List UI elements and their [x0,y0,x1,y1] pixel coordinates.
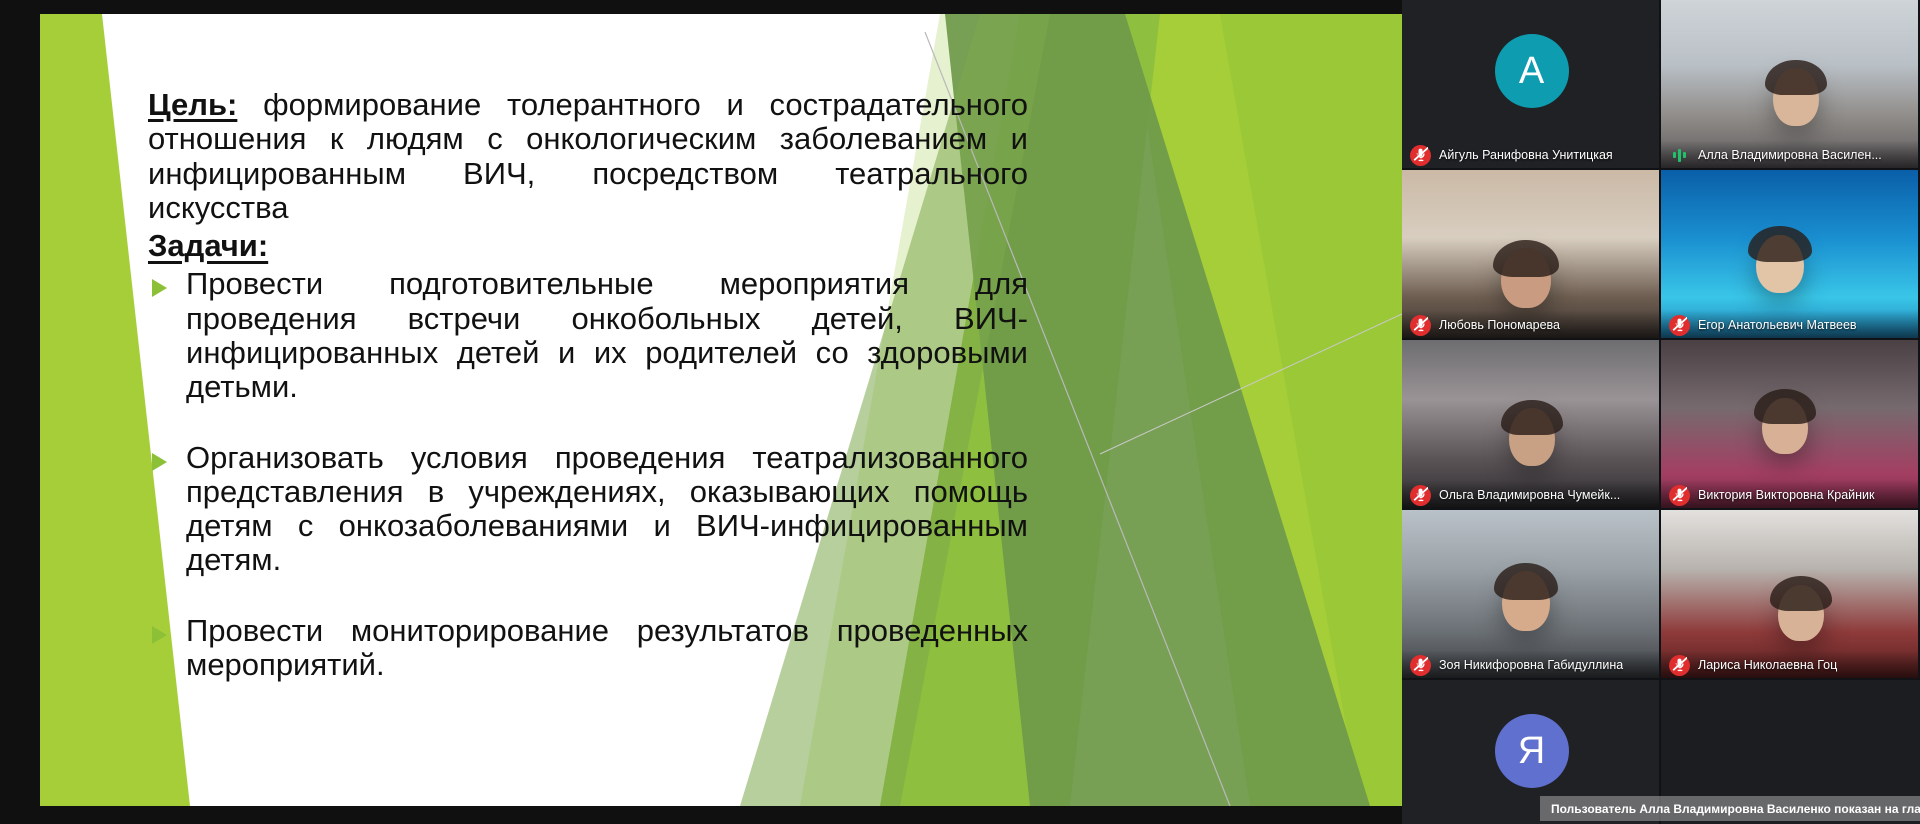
app-root: Цель: формирование толерантного и состра… [0,0,1920,824]
mic-muted-icon[interactable] [1410,145,1431,166]
participant-name: Виктория Викторовна Крайник [1698,488,1875,502]
participant-name-bar: Айгуль Ранифовна Унитицкая [1402,140,1661,170]
audio-level-icon [1669,145,1690,166]
goal-text: формирование толерантного и сострадатель… [148,87,1028,225]
tasks-heading-row: Задачи: [148,225,1028,265]
participant-name-bar: Ольга Владимировна Чумейк... [1402,480,1661,510]
bullet-2-text: Организовать условия проведения театрали… [186,441,1028,612]
avatar: Я [1495,714,1569,788]
goal-label: Цель: [148,87,237,122]
webcam-subject-hair [1748,226,1812,262]
participant-name-bar: Лариса Николаевна Гоц [1661,650,1920,680]
participant-name: Лариса Николаевна Гоц [1698,658,1837,672]
mic-muted-icon[interactable] [1669,485,1690,506]
participant-name: Зоя Никифоровна Габидуллина [1439,658,1623,672]
participant-name: Егор Анатольевич Матвеев [1698,318,1857,332]
mic-muted-icon[interactable] [1410,485,1431,506]
participant-name-bar: Любовь Пономарева [1402,310,1661,340]
participant-name: Алла Владимировна Василен... [1698,148,1882,162]
slide-text-body: Цель: формирование толерантного и состра… [148,88,1028,717]
triangle-bullet-icon [152,279,167,297]
slide-bullet-3: Провести мониторирование результатов про… [148,614,1028,717]
participant-name: Любовь Пономарева [1439,318,1560,332]
participant-name: Айгуль Ранифовна Унитицкая [1439,148,1613,162]
tile-divider [1661,678,1920,680]
slide-bullet-2: Организовать условия проведения театрали… [148,441,1028,612]
mic-muted-icon[interactable] [1669,655,1690,676]
mic-muted-icon[interactable] [1410,315,1431,336]
participant-name-bar: Алла Владимировна Василен... [1661,140,1920,170]
webcam-subject-hair [1501,400,1563,436]
slide-bullet-1: Провести подготовительные мероприятия дл… [148,267,1028,438]
tasks-label: Задачи: [148,229,268,263]
participant-tile[interactable]: Лариса Николаевна Гоц [1661,510,1920,680]
presentation-slide: Цель: формирование толерантного и состра… [40,14,1402,806]
participant-video-panel[interactable]: AАйгуль Ранифовна УнитицкаяАлла Владимир… [1402,0,1920,824]
participant-name-bar: Егор Анатольевич Матвеев [1661,310,1920,340]
bullet-1-text: Провести подготовительные мероприятия дл… [186,267,1028,438]
avatar: A [1495,34,1569,108]
webcam-subject-hair [1754,389,1816,424]
webcam-subject-hair [1493,240,1559,277]
participant-tile-grid: AАйгуль Ранифовна УнитицкаяАлла Владимир… [1402,0,1920,824]
participant-tile[interactable]: Ольга Владимировна Чумейк... [1402,340,1661,510]
participant-tile[interactable]: Егор Анатольевич Матвеев [1661,170,1920,340]
participant-name-bar: Зоя Никифоровна Габидуллина [1402,650,1661,680]
mic-muted-icon[interactable] [1669,315,1690,336]
participant-tile[interactable]: Виктория Викторовна Крайник [1661,340,1920,510]
triangle-bullet-icon [152,626,167,644]
participant-tile[interactable]: AАйгуль Ранифовна Унитицкая [1402,0,1661,170]
goal-paragraph: Цель: формирование толерантного и состра… [148,88,1028,225]
triangle-bullet-icon [152,453,167,471]
mic-muted-icon[interactable] [1410,655,1431,676]
participant-tile[interactable]: Алла Владимировна Василен... [1661,0,1920,170]
screen-share-toast: Пользователь Алла Владимировна Василенко… [1540,796,1920,821]
bullet-3-text: Провести мониторирование результатов про… [186,614,1028,717]
participant-name: Ольга Владимировна Чумейк... [1439,488,1620,502]
participant-tile[interactable]: Зоя Никифоровна Габидуллина [1402,510,1661,680]
webcam-subject-hair [1770,576,1832,611]
participant-name-bar: Виктория Викторовна Крайник [1661,480,1920,510]
webcam-subject-hair [1494,563,1558,600]
shared-screen-stage[interactable]: Цель: формирование толерантного и состра… [0,0,1402,824]
participant-tile[interactable]: Любовь Пономарева [1402,170,1661,340]
toast-message: Пользователь Алла Владимировна Василенко… [1551,802,1920,816]
webcam-subject-hair [1765,60,1827,96]
